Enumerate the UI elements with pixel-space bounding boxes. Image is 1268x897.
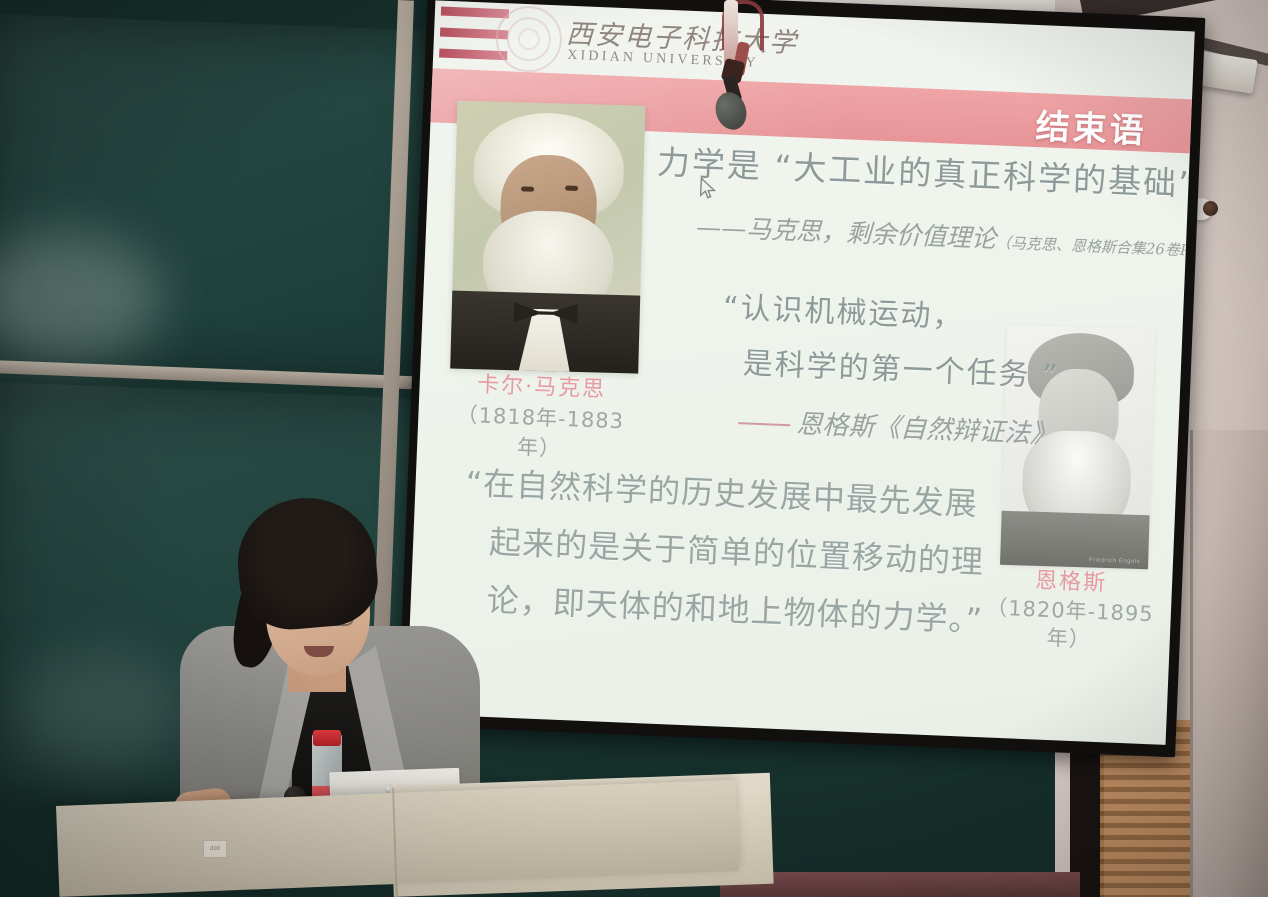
lecture-hall-scene: ThreeBars 西安电子科技大学 XIDIAN UNIVERSITY 结束语 — [0, 0, 1268, 897]
engels-dates: （1820年-1895年） — [977, 593, 1161, 656]
presenter-hair — [233, 492, 382, 634]
camera-lens-icon — [1203, 201, 1218, 216]
right-door[interactable] — [1190, 430, 1268, 897]
podium-base-trim — [720, 872, 1080, 897]
quote-dialectics-line1: “在自然科学的历史发展中最先发展 — [465, 464, 979, 523]
marx-caption: 卡尔·马克思 （1818年-1883年） — [439, 369, 643, 467]
section-banner-title: 结束语 — [1035, 99, 1148, 153]
quote-engels-attribution-text: 恩格斯《自然辩证法》 — [796, 409, 1057, 450]
water-bottle-cap — [313, 730, 341, 746]
quote-engels-line2: 是科学的第一个任务 ” — [742, 336, 1061, 404]
quote-marx-attribution: ——马克思，剩余价值理论（马克思、恩格斯合集26卷P116） — [696, 207, 1195, 265]
presentation-slide: 西安电子科技大学 XIDIAN UNIVERSITY 结束语 卡尔·马克思 （1… — [406, 0, 1195, 745]
quote-engels-dialectics: “在自然科学的历史发展中最先发展 起来的是关于简单的位置移动的理 论，即天体的和… — [460, 454, 1007, 650]
quote-marx-attribution-text: ——马克思，剩余价值理论 — [696, 212, 997, 253]
chalkboard-glare-2 — [16, 650, 186, 770]
projection-screen: 西安电子科技大学 XIDIAN UNIVERSITY 结束语 卡尔·马克思 （1… — [398, 0, 1206, 757]
attribution-dash-icon — [738, 422, 790, 426]
quote-engels-motion: “认识机械运动， 是科学的第一个任务 ” — [720, 280, 1063, 404]
engels-caption: 恩格斯 （1820年-1895年） — [977, 565, 1162, 656]
marx-portrait — [450, 101, 645, 374]
podium-label: ddd — [203, 840, 227, 858]
quote-marx-attribution-source: （马克思、恩格斯合集26卷P116） — [996, 234, 1195, 262]
quote-engels-line1: “认识机械运动， — [722, 290, 965, 335]
